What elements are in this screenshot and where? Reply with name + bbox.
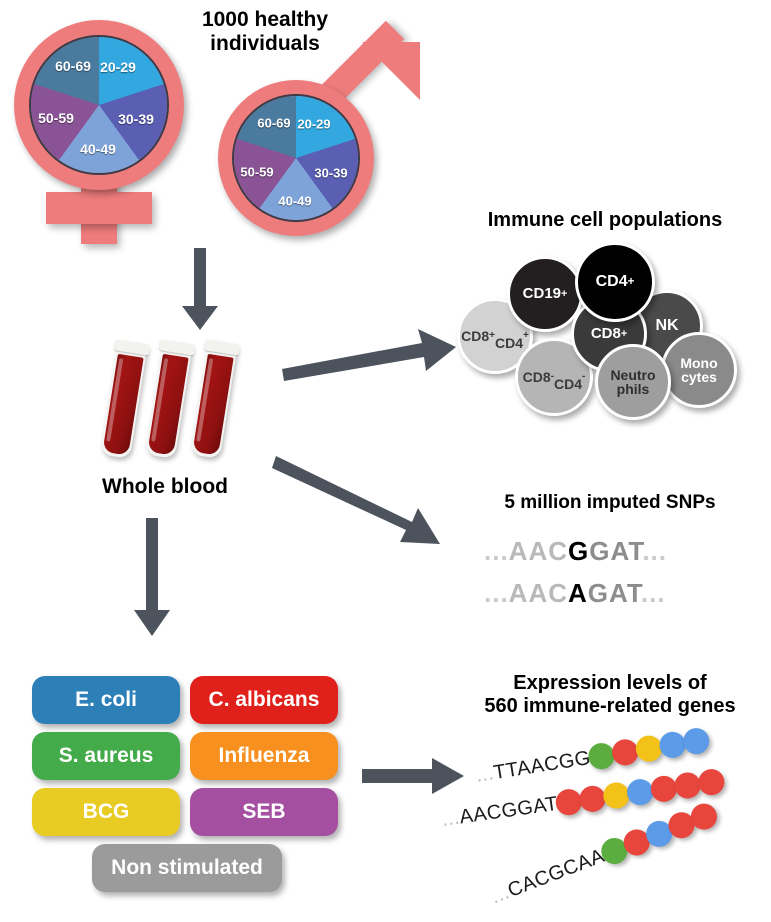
female-symbol: 20-29 30-39 40-49 50-59 60-69 bbox=[6, 14, 206, 244]
expression-bead-red bbox=[697, 767, 726, 796]
expression-title-line2: 560 immune-related genes bbox=[455, 695, 765, 718]
female-age-label-4049: 40-49 bbox=[80, 141, 116, 157]
female-age-label-2029: 20-29 bbox=[100, 59, 136, 75]
stimuli-group: E. coli C. albicans S. aureus Influenza … bbox=[32, 676, 352, 896]
whole-blood-label: Whole blood bbox=[70, 475, 260, 499]
immune-cell-neutrophils: Neutrophils bbox=[595, 344, 671, 420]
snp-sequence-row-2: ...AACAGAT... bbox=[484, 578, 666, 609]
arrow-blood-to-immune-path bbox=[282, 329, 456, 381]
stimuli-item-non-stimulated[interactable]: Non stimulated bbox=[92, 844, 282, 892]
whole-blood-group bbox=[100, 330, 280, 490]
arrow-cohort-to-blood-path bbox=[182, 248, 218, 330]
immune-cell-cd19-positive: CD19+ bbox=[507, 256, 583, 332]
female-stem-horizontal bbox=[46, 192, 152, 224]
arrow-blood-to-snps bbox=[272, 450, 452, 550]
expression-bead-blue bbox=[681, 726, 711, 756]
snp-sequence-row-1: ...AACGGAT... bbox=[484, 536, 667, 567]
expression-strand-2-sequence: ...AACGGAT bbox=[440, 792, 559, 831]
arrow-blood-to-stimuli-path bbox=[134, 518, 170, 636]
stimuli-item-s-aureus[interactable]: S. aureus bbox=[32, 732, 180, 780]
male-age-label-5059: 50-59 bbox=[240, 165, 273, 180]
figure-canvas: 1000 healthy individuals 20-29 30-39 40-… bbox=[0, 0, 771, 922]
blood-tube-2 bbox=[145, 340, 193, 459]
arrow-blood-to-stimuli bbox=[130, 518, 174, 638]
stimuli-item-influenza[interactable]: Influenza bbox=[190, 732, 338, 780]
snp-sequence-group: ...AACGGAT... ...AACAGAT... bbox=[470, 530, 750, 620]
male-age-label-3039: 30-39 bbox=[314, 166, 347, 181]
expression-strand-1-sequence: ...TTAACGG bbox=[474, 747, 592, 788]
stimuli-item-bcg[interactable]: BCG bbox=[32, 788, 180, 836]
male-age-label-2029: 20-29 bbox=[297, 117, 330, 132]
male-age-label-6069: 60-69 bbox=[257, 116, 290, 131]
female-age-label-3039: 30-39 bbox=[118, 111, 154, 127]
immune-cell-cd4-positive: CD4+ bbox=[575, 242, 655, 322]
male-symbol: 20-29 30-39 40-49 50-59 60-69 bbox=[202, 40, 422, 240]
immune-cell-monocytes: Monocytes bbox=[661, 332, 737, 408]
expression-strand-1-beads bbox=[588, 726, 711, 770]
stimuli-item-e-coli[interactable]: E. coli bbox=[32, 676, 180, 724]
female-age-label-5059: 50-59 bbox=[38, 110, 74, 126]
expression-title: Expression levels of 560 immune-related … bbox=[455, 672, 765, 718]
immune-cell-cluster: CD8+CD4+ CD19+ CD8-CD4- NK CD8+ CD4+ Neu… bbox=[455, 240, 755, 420]
expression-title-line1: Expression levels of bbox=[455, 672, 765, 695]
stimuli-item-seb[interactable]: SEB bbox=[190, 788, 338, 836]
snps-title: 5 million imputed SNPs bbox=[465, 492, 755, 514]
blood-tube-1 bbox=[100, 340, 148, 459]
expression-strand-group: ...TTAACGG ...AACGGAT ...CACGCAA bbox=[440, 735, 771, 915]
stimuli-item-c-albicans[interactable]: C. albicans bbox=[190, 676, 338, 724]
arrow-blood-to-snps-path bbox=[272, 456, 440, 544]
blood-tube-3 bbox=[190, 340, 238, 459]
arrow-cohort-to-blood bbox=[178, 248, 222, 332]
arrow-blood-to-immune bbox=[280, 325, 460, 385]
male-age-label-4049: 40-49 bbox=[278, 194, 311, 209]
female-age-label-6069: 60-69 bbox=[55, 58, 91, 74]
immune-title: Immune cell populations bbox=[455, 209, 755, 232]
expression-strand-3-sequence: ...CACGCAA bbox=[488, 844, 608, 908]
expression-strand-3-beads bbox=[599, 800, 720, 867]
